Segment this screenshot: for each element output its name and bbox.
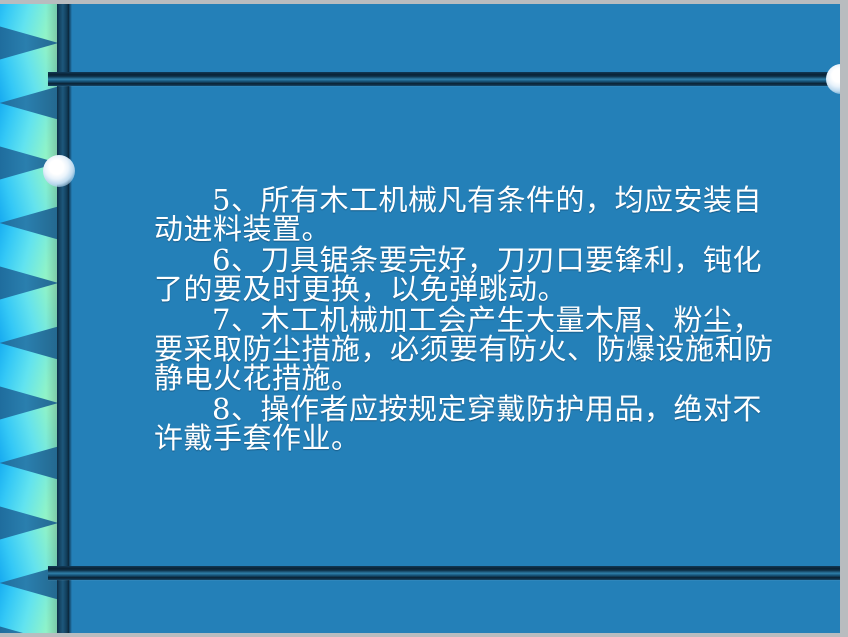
divider-rail-bottom <box>48 566 840 580</box>
page-edge-bottom <box>0 633 848 637</box>
vertical-bevel-shadow <box>69 0 72 637</box>
zigzag-ribbon-panel <box>0 0 58 637</box>
slide-body-text: 5、所有木工机械凡有条件的，均应安装自动进料装置。 6、刀具锯条要完好，刀刃口要… <box>154 186 784 455</box>
body-paragraph: 5、所有木工机械凡有条件的，均应安装自动进料装置。 <box>154 186 784 244</box>
page-edge-top <box>0 0 848 4</box>
presentation-slide: 5、所有木工机械凡有条件的，均应安装自动进料装置。 6、刀具锯条要完好，刀刃口要… <box>0 0 848 637</box>
vertical-bevel-bar <box>57 0 69 637</box>
body-paragraph: 7、木工机械加工会产生大量木屑、粉尘，要采取防尘措施，必须要有防火、防爆设施和防… <box>154 306 784 393</box>
body-paragraph: 6、刀具锯条要完好，刀刃口要锋利，钝化了的要及时更换，以免弹跳动。 <box>154 246 784 304</box>
page-edge-right <box>840 0 848 637</box>
slide-content-area: 5、所有木工机械凡有条件的，均应安装自动进料装置。 6、刀具锯条要完好，刀刃口要… <box>70 86 840 566</box>
divider-rail-top <box>48 72 840 86</box>
slide-title-band <box>70 4 840 72</box>
glow-orb-left <box>43 155 75 187</box>
body-paragraph: 8、操作者应按规定穿戴防护用品，绝对不许戴手套作业。 <box>154 395 784 453</box>
slide-footer-band <box>70 580 840 633</box>
